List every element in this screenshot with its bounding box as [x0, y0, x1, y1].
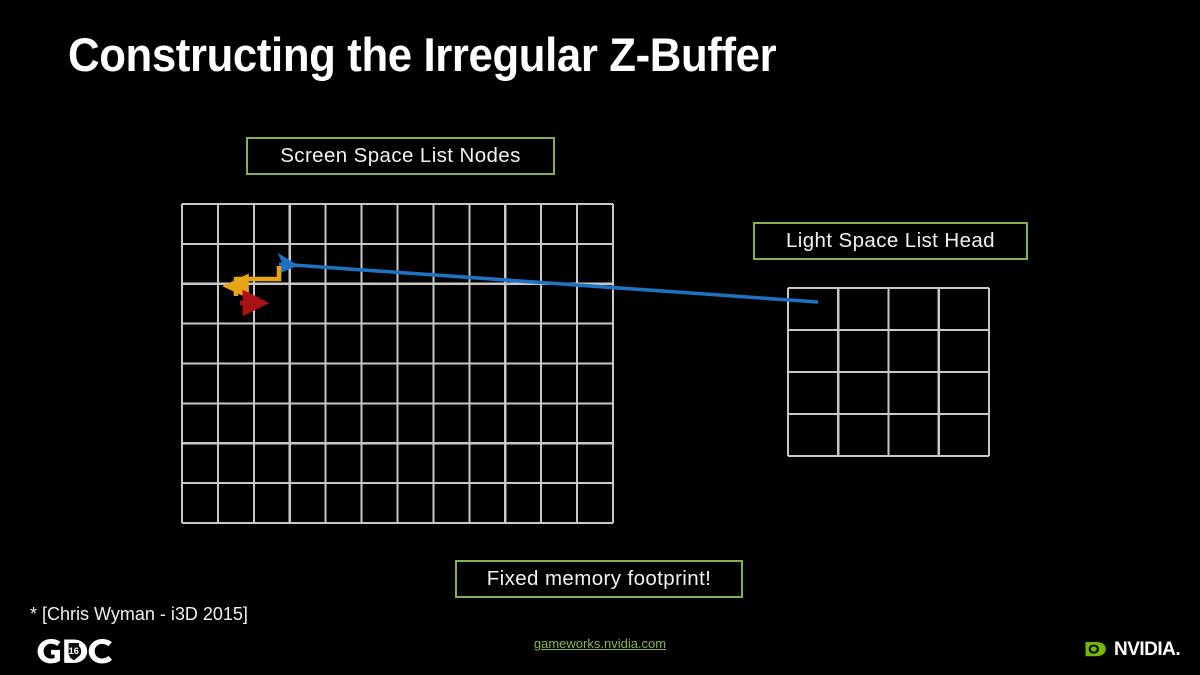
- callout-footprint-label: Fixed memory footprint!: [487, 567, 712, 591]
- slide-canvas: Constructing the Irregular Z-Buffer Scre…: [0, 0, 1200, 675]
- light-space-grid: [788, 288, 989, 456]
- callout-light-space-label: Light Space List Head: [786, 229, 995, 253]
- callout-screen-space-list-nodes: Screen Space List Nodes: [246, 137, 555, 175]
- footer-url-label: gameworks.nvidia.com: [534, 636, 666, 651]
- list-node-pointer-orange-arrow: [236, 266, 279, 296]
- footnote-citation: * [Chris Wyman - i3D 2015]: [30, 604, 248, 625]
- footer-url-link[interactable]: gameworks.nvidia.com: [0, 636, 1200, 651]
- callout-light-space-list-head: Light Space List Head: [753, 222, 1028, 260]
- light-to-screen-link-arrow: [279, 264, 818, 302]
- screen-space-grid: [182, 204, 613, 523]
- callout-fixed-memory-footprint: Fixed memory footprint!: [455, 560, 743, 598]
- page-title: Constructing the Irregular Z-Buffer: [68, 27, 776, 82]
- callout-screen-space-label: Screen Space List Nodes: [280, 144, 521, 168]
